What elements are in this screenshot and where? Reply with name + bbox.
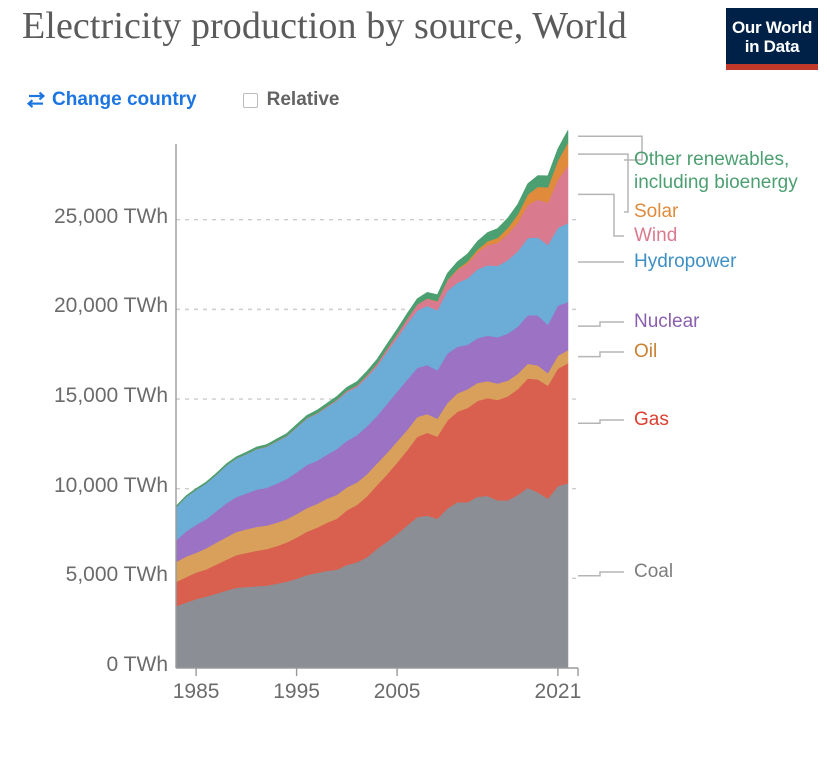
relative-label: Relative xyxy=(267,89,340,111)
swap-arrows-icon xyxy=(26,91,46,109)
legend-label-hydropower[interactable]: Hydropower xyxy=(634,250,736,273)
logo-line-1: Our World xyxy=(732,18,812,37)
legend-label-nuclear[interactable]: Nuclear xyxy=(634,310,699,333)
logo-red-rule xyxy=(726,64,818,70)
checkbox-icon[interactable] xyxy=(243,93,258,108)
legend-label-text: Nuclear xyxy=(634,310,699,333)
logo-line-2: in Data xyxy=(745,37,800,56)
legend-label-text: Coal xyxy=(634,560,673,583)
legend-label-coal[interactable]: Coal xyxy=(634,560,673,583)
relative-toggle[interactable]: Relative xyxy=(243,89,340,111)
chart-controls: Change country Relative xyxy=(26,86,340,114)
legend-label-text: Solar xyxy=(634,200,678,223)
change-country-button[interactable]: Change country xyxy=(26,89,197,111)
our-world-in-data-logo[interactable]: Our World in Data xyxy=(726,8,818,70)
legend-label-text: Hydropower xyxy=(634,250,736,273)
chart-legend: Other renewables,including bioenergySola… xyxy=(0,130,828,730)
page-title: Electricity production by source, World xyxy=(22,4,662,48)
legend-label-gas[interactable]: Gas xyxy=(634,408,669,431)
legend-label-text: Wind xyxy=(634,224,677,247)
change-country-label: Change country xyxy=(52,89,197,111)
legend-label-text: Oil xyxy=(634,340,657,363)
chart-area: 0 TWh5,000 TWh10,000 TWh15,000 TWh20,000… xyxy=(0,130,828,730)
legend-label-solar[interactable]: Solar xyxy=(634,200,678,223)
legend-label-wind[interactable]: Wind xyxy=(634,224,677,247)
legend-label-oil[interactable]: Oil xyxy=(634,340,657,363)
legend-label-text: Gas xyxy=(634,408,669,431)
legend-label-other-renewables[interactable]: Other renewables,including bioenergy xyxy=(634,148,798,194)
legend-label-text-line2: including bioenergy xyxy=(634,171,798,194)
legend-label-text: Other renewables, xyxy=(634,148,798,171)
